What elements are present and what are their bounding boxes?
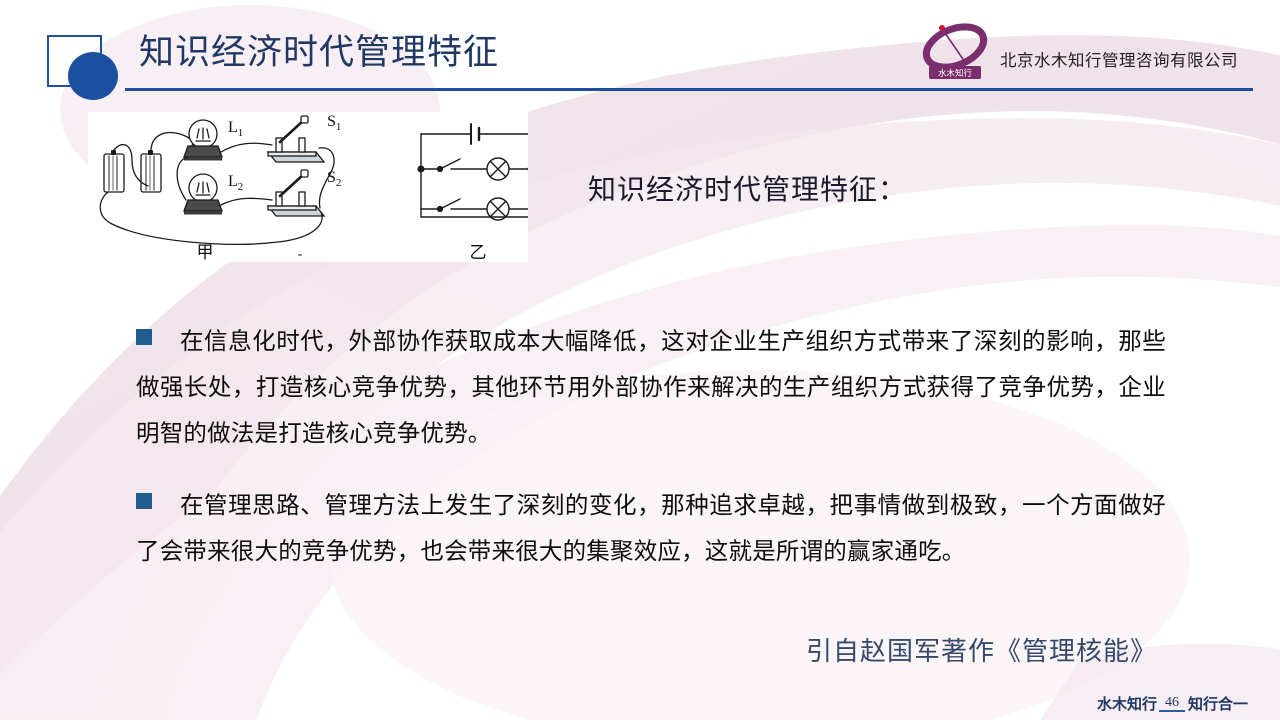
company-logo: 水木知行	[915, 20, 995, 84]
header-divider	[125, 88, 1253, 91]
footer-right-text: 知行合一	[1188, 693, 1248, 714]
slide-canvas: 知识经济时代管理特征 水木知行 北京水木知行管理咨询有限公司	[0, 0, 1280, 720]
lead-heading: 知识经济时代管理特征：	[588, 168, 907, 208]
page-title: 知识经济时代管理特征	[139, 24, 499, 75]
company-logo-icon: 水木知行	[915, 20, 995, 84]
circuit-diagram-icon: L1 L2 S1 S2 甲 - 乙	[88, 112, 528, 262]
slide-footer: 水木知行 46 知行合一	[1097, 693, 1248, 714]
company-name: 北京水木知行管理咨询有限公司	[1000, 47, 1238, 71]
label-S2: S2	[327, 169, 341, 189]
label-L2: L2	[228, 173, 243, 193]
label-L1: L1	[228, 119, 243, 139]
bullet-square-icon	[136, 493, 152, 509]
label-S1: S1	[327, 113, 341, 133]
citation-text: 引自赵国军著作《管理核能》	[806, 631, 1157, 668]
bullet-text: 在信息化时代，外部协作获取成本大幅降低，这对企业生产组织方式带来了深刻的影响，那…	[136, 318, 1166, 456]
page-number-underline	[1159, 710, 1185, 712]
list-item: 在信息化时代，外部协作获取成本大幅降低，这对企业生产组织方式带来了深刻的影响，那…	[136, 318, 1166, 456]
footer-left-text: 水木知行	[1097, 693, 1157, 714]
list-item: 在管理思路、管理方法上发生了深刻的变化，那种追求卓越，把事情做到极致，一个方面做…	[136, 482, 1166, 574]
logo-banner-text: 水木知行	[938, 68, 973, 79]
figure-label-dash: -	[298, 247, 303, 262]
bullet-text: 在管理思路、管理方法上发生了深刻的变化，那种追求卓越，把事情做到极致，一个方面做…	[136, 482, 1166, 574]
figure-label-yi: 乙	[470, 243, 487, 262]
page-number: 46	[1159, 696, 1185, 709]
slide-header: 知识经济时代管理特征 水木知行 北京水木知行管理咨询有限公司	[0, 0, 1280, 100]
header-circle-decoration	[68, 52, 118, 100]
bullet-list: 在信息化时代，外部协作获取成本大幅降低，这对企业生产组织方式带来了深刻的影响，那…	[136, 318, 1166, 600]
bullet-square-icon	[136, 329, 152, 345]
page-number-group: 46	[1159, 696, 1185, 712]
figure-label-jia: 甲	[197, 243, 214, 262]
circuit-figure: L1 L2 S1 S2 甲 - 乙	[88, 112, 528, 262]
